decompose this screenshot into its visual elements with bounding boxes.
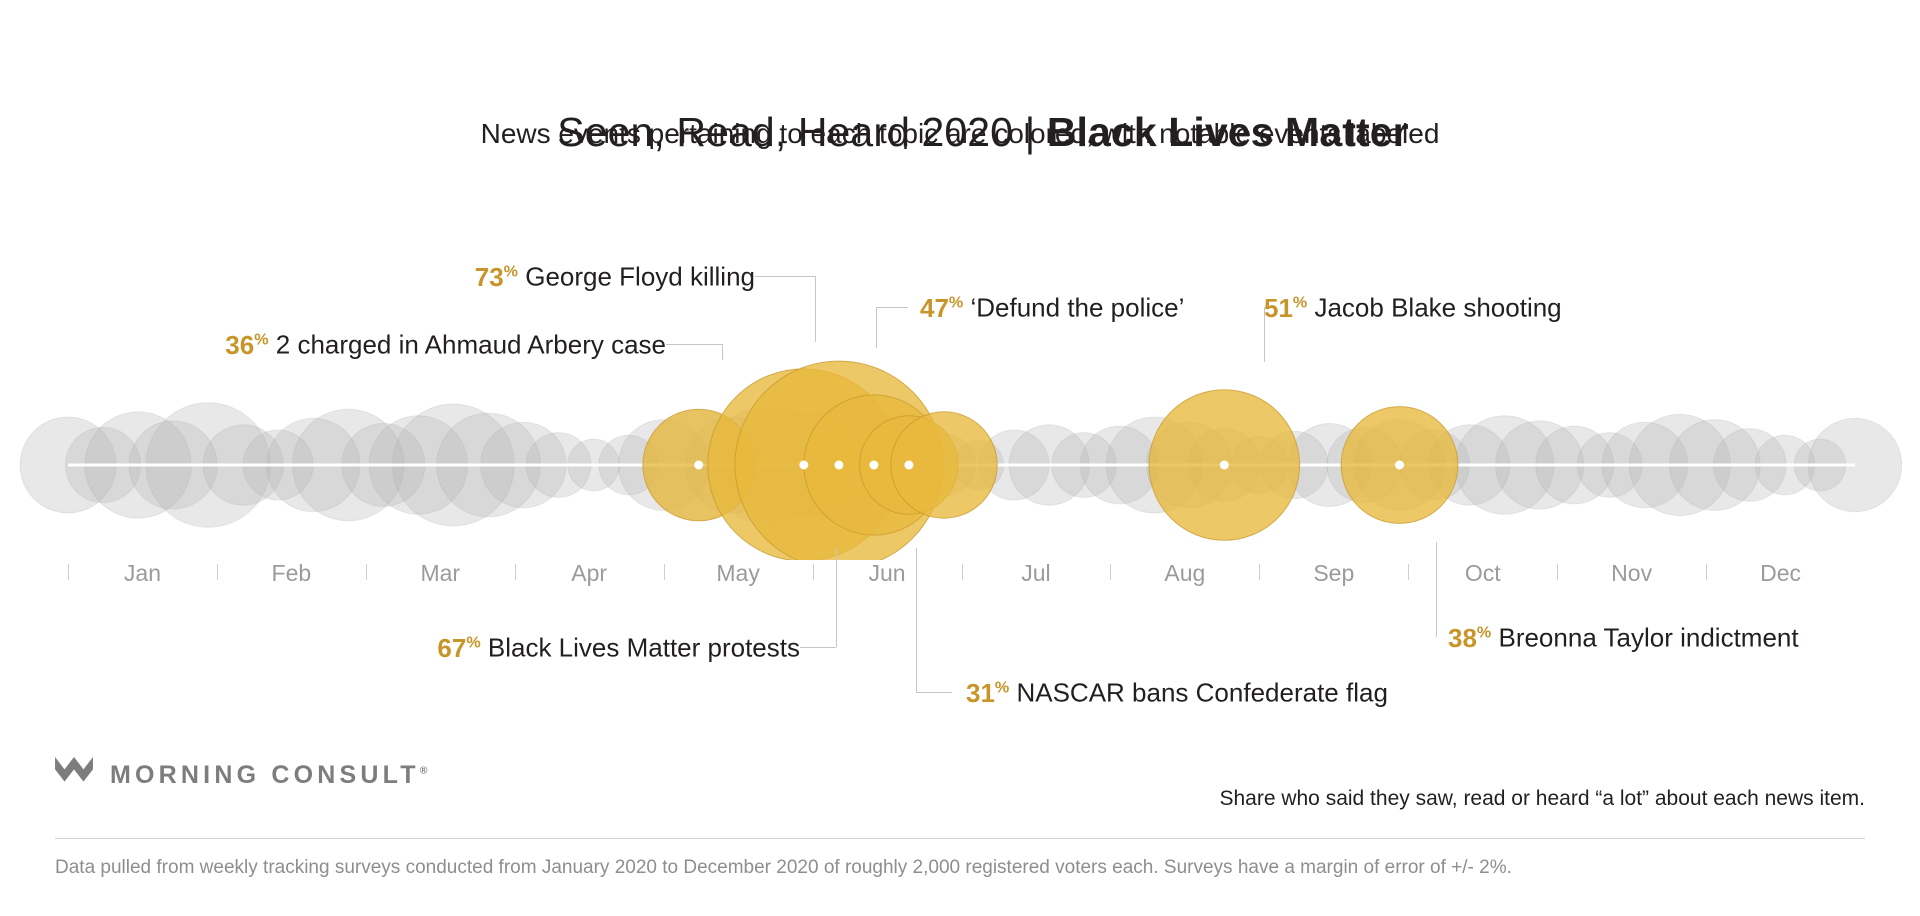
annotation-label: Jacob Blake shooting (1307, 293, 1561, 323)
axis-month-label-aug: Aug (1164, 560, 1205, 587)
axis-tick (664, 564, 665, 580)
annotation-defund-police[interactable]: 47% ‘Defund the police’ (920, 294, 1184, 321)
annotation-label: Breonna Taylor indictment (1491, 623, 1798, 653)
axis-month-label-may: May (716, 560, 759, 587)
annotation-ahmaud-arbery[interactable]: 36% 2 charged in Ahmaud Arbery case (225, 331, 666, 358)
annotation-blm-protests[interactable]: 67% Black Lives Matter protests (437, 634, 800, 661)
bubble-center-dot (694, 461, 703, 470)
annotation-value: 38% (1448, 623, 1491, 653)
registered-mark-icon: ® (420, 764, 428, 776)
chart-canvas: Seen, Read, Heard 2020 | Black Lives Mat… (0, 0, 1920, 916)
axis-month-label-dec: Dec (1760, 560, 1801, 587)
bubble-center-dot (799, 461, 808, 470)
annotation-leader-line (1436, 542, 1437, 637)
axis-tick (962, 564, 963, 580)
annotation-jacob-blake[interactable]: 51% Jacob Blake shooting (1264, 294, 1562, 321)
annotation-value: 47% (920, 293, 963, 323)
percent-sign-icon: % (1477, 623, 1491, 641)
percent-sign-icon: % (949, 293, 963, 311)
morning-consult-mark-icon (55, 757, 93, 793)
annotation-value: 36% (225, 330, 268, 360)
percent-sign-icon: % (1293, 293, 1307, 311)
share-note: Share who said they saw, read or heard “… (1219, 787, 1865, 811)
bubble-center-dot (904, 461, 913, 470)
bubble-center-dot (869, 461, 878, 470)
annotation-value: 31% (966, 678, 1009, 708)
axis-tick (217, 564, 218, 580)
annotation-value: 73% (475, 262, 518, 292)
annotation-leader-line (916, 692, 952, 693)
percent-sign-icon: % (466, 633, 480, 651)
annotation-label: Black Lives Matter protests (481, 633, 800, 663)
percent-sign-icon: % (995, 678, 1009, 696)
axis-tick (366, 564, 367, 580)
annotation-value: 67% (437, 633, 480, 663)
footer: MORNING CONSULT® Share who said they saw… (0, 735, 1920, 916)
annotation-leader-line (666, 344, 722, 345)
annotation-george-floyd[interactable]: 73% George Floyd killing (475, 263, 755, 290)
bubble-center-dot (1395, 461, 1404, 470)
month-axis: JanFebMarAprMayJunJulAugSepOctNovDec (0, 560, 1920, 600)
percent-sign-icon: % (254, 330, 268, 348)
annotation-leader-line (800, 647, 836, 648)
annotation-value: 51% (1264, 293, 1307, 323)
annotation-nascar-flag[interactable]: 31% NASCAR bans Confederate flag (966, 679, 1388, 706)
annotation-leader-line (836, 548, 837, 647)
axis-month-label-oct: Oct (1465, 560, 1501, 587)
annotation-label: NASCAR bans Confederate flag (1009, 678, 1388, 708)
percent-sign-icon: % (504, 262, 518, 280)
axis-month-label-jan: Jan (124, 560, 161, 587)
bubble-center-dot (1220, 461, 1229, 470)
annotation-leader-line (876, 307, 908, 308)
annotation-leader-line (815, 276, 816, 342)
footer-divider (55, 838, 1865, 839)
axis-month-label-sep: Sep (1313, 560, 1354, 587)
logo-text: MORNING CONSULT (110, 761, 420, 789)
annotation-leader-line (755, 276, 815, 277)
axis-tick (813, 564, 814, 580)
annotation-leader-line (876, 307, 877, 348)
axis-month-label-mar: Mar (420, 560, 460, 587)
axis-tick (1408, 564, 1409, 580)
axis-tick (1706, 564, 1707, 580)
axis-tick (1110, 564, 1111, 580)
annotation-label: 2 charged in Ahmaud Arbery case (269, 330, 666, 360)
annotation-leader-line (722, 344, 723, 360)
morning-consult-logo: MORNING CONSULT® (55, 757, 428, 793)
axis-tick (1259, 564, 1260, 580)
bubble-center-dot (834, 461, 843, 470)
axis-month-label-apr: Apr (571, 560, 607, 587)
page-subtitle: News events pertaining to each topic are… (0, 118, 1920, 150)
axis-month-label-jun: Jun (868, 560, 905, 587)
bubble-plot (0, 230, 1920, 560)
axis-tick (515, 564, 516, 580)
annotation-breonna-taylor[interactable]: 38% Breonna Taylor indictment (1448, 624, 1799, 651)
annotation-label: ‘Defund the police’ (963, 293, 1184, 323)
morning-consult-wordmark: MORNING CONSULT® (110, 761, 428, 790)
axis-tick (68, 564, 69, 580)
source-note: Data pulled from weekly tracking surveys… (55, 857, 1512, 879)
axis-month-label-feb: Feb (272, 560, 312, 587)
bubble-chart-svg (0, 230, 1920, 560)
annotation-label: George Floyd killing (518, 262, 755, 292)
axis-month-label-jul: Jul (1021, 560, 1050, 587)
axis-tick (1557, 564, 1558, 580)
axis-month-label-nov: Nov (1611, 560, 1652, 587)
annotation-leader-line (916, 548, 917, 692)
